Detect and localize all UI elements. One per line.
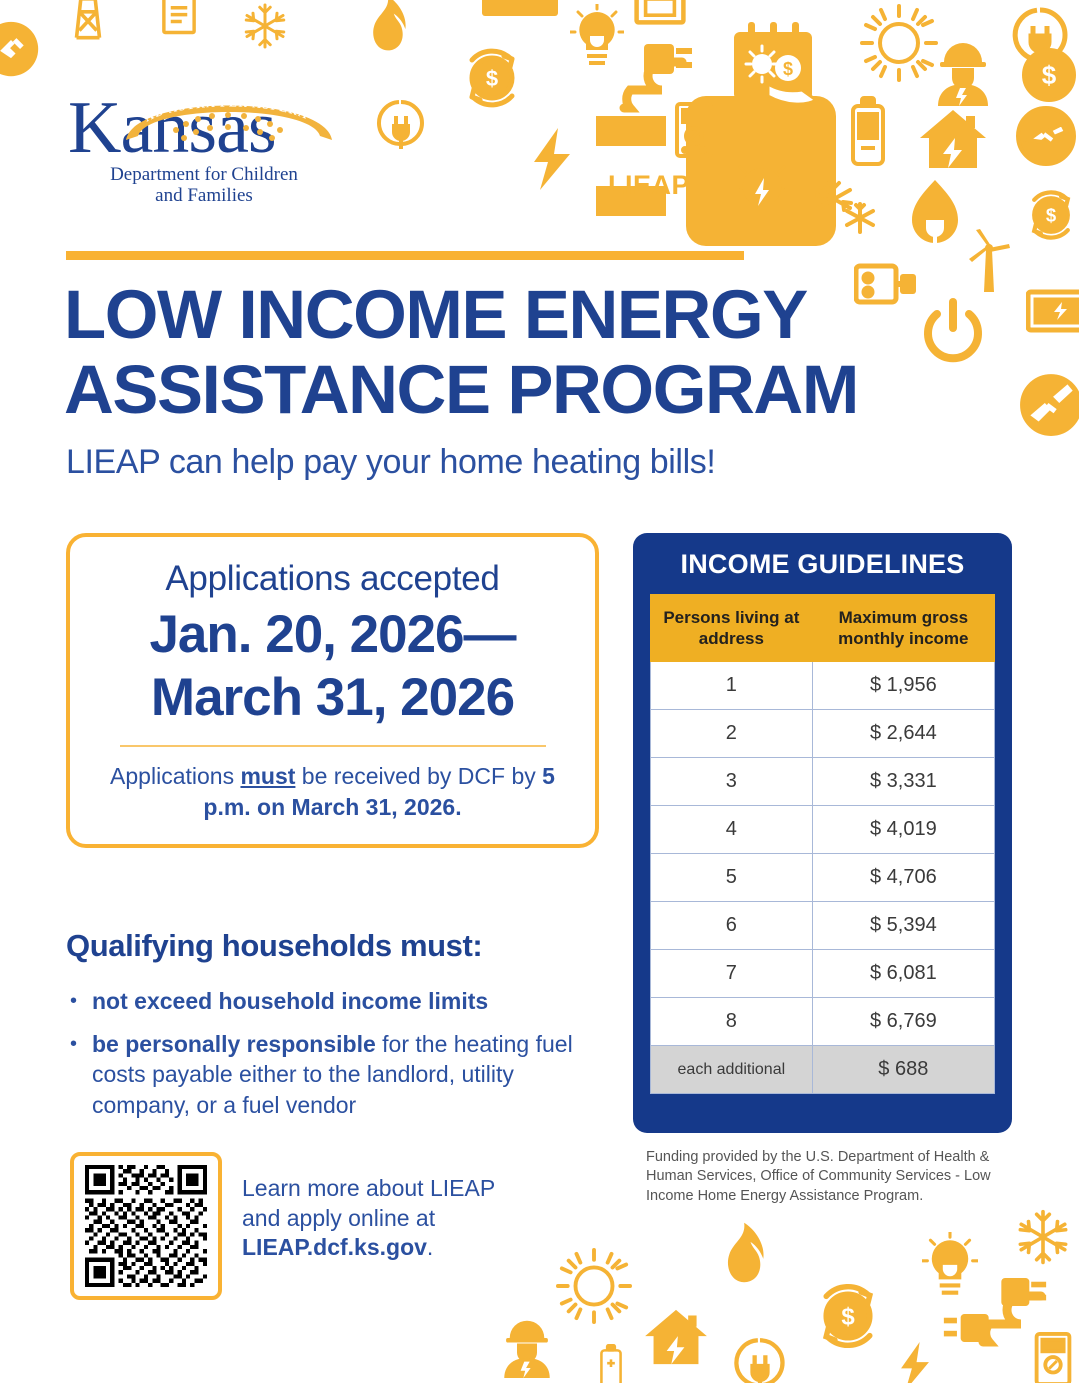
kansas-dcf-logo: AD ASTRA PER ASPERA Kansas Department fo… [66, 86, 366, 206]
lightbulb-plug-icon [570, 4, 624, 74]
ad-astra-banner: AD ASTRA PER ASPERA [66, 86, 366, 144]
funding-disclaimer: Funding provided by the U.S. Department … [646, 1148, 1002, 1206]
income-guidelines-table: Persons living at address Maximum gross … [650, 594, 995, 1094]
gold-divider-rule [66, 251, 744, 260]
lightbulb-bolt-icon [733, 158, 791, 234]
logo-department-line-2: and Families [68, 185, 340, 206]
qr-instruction-text: Learn more about LIEAP and apply online … [242, 1174, 572, 1263]
battery-bar-icon [482, 0, 558, 22]
qr-code[interactable] [70, 1152, 222, 1300]
flame-icon [355, 0, 417, 68]
power-button-icon [920, 298, 986, 364]
cord-plug-icon [948, 1278, 1058, 1350]
svg-text:$: $ [783, 59, 793, 79]
application-dates-card: Applications accepted Jan. 20, 2026— Mar… [66, 533, 599, 848]
cord-plug-icon [590, 44, 698, 116]
battery-icon [594, 1344, 628, 1383]
bullet-icon: • [70, 1029, 92, 1121]
windmill-icon [964, 228, 1014, 294]
money-cycle-icon: $ [1014, 178, 1079, 252]
table-row: 7$ 6,081 [651, 950, 995, 998]
list-item-text: not exceed household income limits [92, 986, 488, 1017]
income-guidelines-title: INCOME GUIDELINES [650, 549, 995, 580]
applications-accepted-label: Applications accepted [70, 559, 595, 599]
list-item: • be personally responsible for the heat… [70, 1029, 580, 1121]
plug-head-icon [634, 40, 694, 78]
flame-icon [708, 1222, 776, 1302]
qr-period: . [427, 1234, 433, 1260]
plug-outline-icon [732, 1336, 788, 1383]
money-circle-icon: $ [1020, 46, 1078, 104]
calendar-money-icon: $ [728, 18, 824, 118]
svg-text:$: $ [1042, 60, 1057, 90]
cell-persons: 5 [651, 854, 813, 902]
money-cycle-icon: $ [448, 34, 536, 122]
deadline-note: Applications must be received by DCF by … [70, 761, 595, 823]
lieap-website-link[interactable]: LIEAP.dcf.ks.gov [242, 1234, 427, 1260]
cell-persons: 1 [651, 662, 813, 710]
lightning-bolt-icon [530, 128, 574, 190]
cell-amount: $ 3,331 [812, 758, 994, 806]
date-card-divider [120, 745, 546, 747]
plug-circle-icon [1018, 372, 1079, 438]
cell-amount: $ 4,706 [812, 854, 994, 902]
plug-head-icon [942, 1310, 998, 1346]
qualifying-list: • not exceed household income limits • b… [70, 986, 580, 1132]
qr-line-1: Learn more about LIEAP [242, 1174, 572, 1204]
battery-card-icon [1026, 288, 1079, 336]
deadline-note-mid: be received by DCF by [295, 763, 542, 789]
cell-amount: $ 6,769 [812, 998, 994, 1046]
sun-icon [860, 4, 938, 82]
cell-amount: $ 5,394 [812, 902, 994, 950]
cell-amount: $ 688 [812, 1046, 994, 1094]
document-icon [155, 0, 203, 38]
document-box-icon [630, 0, 690, 26]
deadline-note-pre: Applications [110, 763, 240, 789]
table-header-row: Persons living at address Maximum gross … [651, 595, 995, 662]
plug-money-circle-icon [1014, 104, 1078, 168]
cell-persons: 6 [651, 902, 813, 950]
income-table-body: 1$ 1,956 2$ 2,644 3$ 3,331 4$ 4,019 5$ 4… [651, 662, 995, 1094]
column-header-persons: Persons living at address [651, 595, 813, 662]
cell-persons: 3 [651, 758, 813, 806]
lightning-bolt-icon [894, 1342, 936, 1383]
date-range-line-2: March 31, 2026 [70, 667, 595, 730]
cell-amount: $ 4,019 [812, 806, 994, 854]
multimeter-icon [675, 102, 713, 158]
plug-head-icon [992, 1274, 1048, 1310]
cell-amount: $ 6,081 [812, 950, 994, 998]
house-bolt-icon [918, 108, 988, 170]
lightbulb-plug-icon [922, 1232, 978, 1304]
table-row: 6$ 5,394 [651, 902, 995, 950]
cell-amount: $ 2,644 [812, 710, 994, 758]
svg-text:$: $ [1046, 205, 1057, 226]
table-row: 8$ 6,769 [651, 998, 995, 1046]
battery-icon [847, 96, 889, 168]
list-item-text: be personally responsible for the heatin… [92, 1029, 580, 1121]
list-item-bold: not exceed household income limits [92, 988, 488, 1014]
cell-persons: 8 [651, 998, 813, 1046]
worker-icon [930, 40, 996, 106]
cell-amount: $ 1,956 [812, 662, 994, 710]
qr-line-2: and apply online at [242, 1204, 572, 1234]
money-cycle-icon: $ [800, 1268, 896, 1364]
plug-outline-icon [376, 98, 426, 154]
snowflake-icon [241, 2, 289, 50]
page-subtitle: LIEAP can help pay your home heating bil… [66, 443, 896, 482]
plug-circle-outline-icon [1010, 6, 1070, 72]
house-bolt-icon [643, 1308, 709, 1366]
plug-circle-icon [0, 20, 40, 78]
snowflake-icon [812, 178, 880, 238]
table-row: 1$ 1,956 [651, 662, 995, 710]
lieap-deco-word: LIEAP [608, 170, 690, 201]
multimeter-icon [1034, 1332, 1072, 1383]
flame-plug-icon [906, 178, 964, 250]
qr-url-line: LIEAP.dcf.ks.gov. [242, 1233, 572, 1263]
cell-persons: 4 [651, 806, 813, 854]
table-row: 3$ 3,331 [651, 758, 995, 806]
cell-persons: each additional [651, 1046, 813, 1094]
table-row: 4$ 4,019 [651, 806, 995, 854]
table-row: 5$ 4,706 [651, 854, 995, 902]
bullet-icon: • [70, 986, 92, 1017]
poster: $ $ [0, 0, 1079, 1383]
page-title: LOW INCOME ENERGY ASSISTANCE PROGRAM [64, 277, 884, 427]
list-item: • not exceed household income limits [70, 986, 580, 1017]
column-header-income: Maximum gross monthly income [812, 595, 994, 662]
list-item-bold: be personally responsible [92, 1031, 376, 1057]
date-range-line-1: Jan. 20, 2026— [70, 604, 595, 667]
qualifying-heading: Qualifying households must: [66, 928, 482, 964]
svg-text:$: $ [486, 66, 498, 91]
application-date-range: Jan. 20, 2026— March 31, 2026 [70, 604, 595, 729]
snowflake-icon [1014, 1208, 1072, 1266]
cell-persons: 2 [651, 710, 813, 758]
worker-icon [497, 1318, 557, 1378]
power-tower-icon [62, 0, 114, 42]
cell-persons: 7 [651, 950, 813, 998]
table-row: 2$ 2,644 [651, 710, 995, 758]
deadline-note-must: must [240, 763, 295, 789]
income-guidelines-panel: INCOME GUIDELINES Persons living at addr… [633, 533, 1012, 1133]
svg-text:$: $ [841, 1304, 855, 1331]
table-row-each-additional: each additional$ 688 [651, 1046, 995, 1094]
